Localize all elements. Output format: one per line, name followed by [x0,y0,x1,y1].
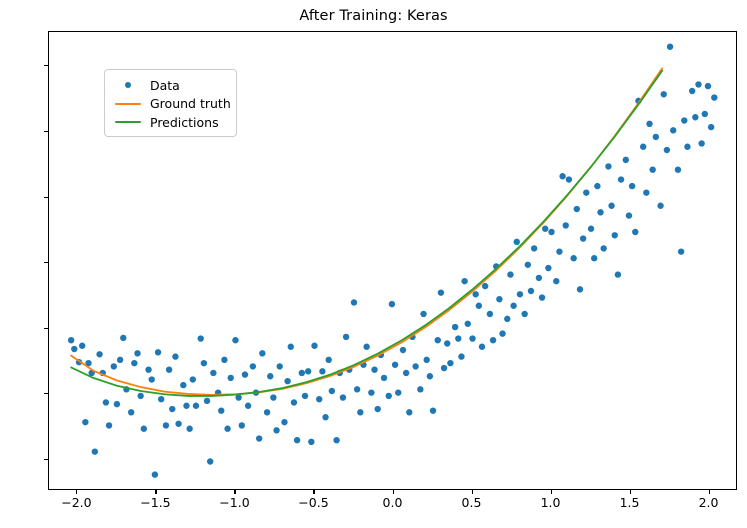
data-point [152,471,158,477]
x-tick-mark [630,490,631,494]
data-point [510,303,516,309]
data-point [392,362,398,368]
data-point [284,378,290,384]
data-point [711,94,717,100]
data-point [542,226,548,232]
data-point [548,229,554,235]
data-point [455,335,461,341]
data-point [389,301,395,307]
data-point [259,350,265,356]
data-point [111,363,117,369]
legend-label-ground-truth: Ground truth [150,96,231,111]
data-point [117,357,123,363]
data-point [131,360,137,366]
data-point [294,437,300,443]
legend-item-ground-truth: Ground truth [112,95,228,114]
legend-line-ground-truth-icon [112,103,144,105]
data-point [646,121,652,127]
plot-axes: Data Ground truth Predictions [48,31,737,490]
data-point [340,394,346,400]
y-tick-mark [44,393,48,394]
x-tick-label: −2.0 [61,495,91,510]
data-point [137,393,143,399]
data-point [490,337,496,343]
data-point [525,262,531,268]
data-point [281,419,287,425]
x-tick-mark [709,490,710,494]
data-point [577,286,583,292]
data-point [319,368,325,374]
data-point [256,435,262,441]
data-point [695,81,701,87]
data-point [288,344,294,350]
data-point [204,398,210,404]
data-point [172,353,178,359]
data-point [186,426,192,432]
data-point [175,421,181,427]
data-point [667,44,673,50]
data-point [531,245,537,251]
data-point [158,396,164,402]
data-point [322,414,328,420]
data-point [180,382,186,388]
data-point [386,393,392,399]
data-point [417,386,423,392]
x-tick-label: 2.0 [699,495,719,510]
data-point [615,271,621,277]
y-tick-mark [44,262,48,263]
data-point [183,403,189,409]
data-point [381,375,387,381]
data-point [412,363,418,369]
data-point [375,406,381,412]
data-point [487,311,493,317]
data-point [444,340,450,346]
x-tick-label: −1.5 [140,495,170,510]
data-point [273,427,279,433]
data-point [277,363,283,369]
data-point [92,448,98,454]
data-point [559,173,565,179]
x-tick-label: 0.0 [383,495,403,510]
data-point [96,351,102,357]
x-tick-label: 1.5 [620,495,640,510]
data-point [311,343,317,349]
data-point [675,167,681,173]
data-point [588,226,594,232]
data-point [594,183,600,189]
data-point [308,439,314,445]
data-point [128,409,134,415]
data-point [514,239,520,245]
figure-canvas: After Training: Keras Data Ground truth [0,0,747,528]
data-point [239,422,245,428]
data-point [678,248,684,254]
data-point [250,363,256,369]
data-point [242,371,248,377]
legend-label-predictions: Predictions [150,115,219,130]
data-point [657,203,663,209]
y-tick-mark [44,197,48,198]
y-tick-mark [44,65,48,66]
data-point [134,350,140,356]
legend-item-data: Data [112,76,228,95]
data-point [539,294,545,300]
data-point [640,144,646,150]
data-point [305,368,311,374]
data-point [447,360,453,366]
y-tick-mark [44,328,48,329]
x-tick-label: 0.5 [462,495,482,510]
data-point [438,289,444,295]
data-point [482,283,488,289]
x-tick-mark [313,490,314,494]
data-point [521,311,527,317]
data-point [608,203,614,209]
data-point [689,88,695,94]
data-point [600,245,606,251]
x-tick-label: −0.5 [298,495,328,510]
legend-label-data: Data [150,78,180,93]
data-point [264,409,270,415]
data-point [198,335,204,341]
chart-title: After Training: Keras [0,8,747,24]
data-point [326,357,332,363]
data-point [643,189,649,195]
data-point [120,335,126,341]
data-point [430,407,436,413]
data-point [329,388,335,394]
data-point [333,437,339,443]
data-point [201,360,207,366]
data-point [574,206,580,212]
y-tick-mark [44,459,48,460]
data-point [528,288,534,294]
data-point [207,458,213,464]
x-tick-mark [76,490,77,494]
data-point [692,114,698,120]
data-point [472,291,478,297]
data-point [435,337,441,343]
data-point [465,321,471,327]
data-point [684,144,690,150]
data-point [441,365,447,371]
data-point [664,147,670,153]
data-point [536,275,542,281]
data-point [423,357,429,363]
data-point [68,337,74,343]
data-point [371,366,377,372]
data-point [458,353,464,359]
data-point [270,394,276,400]
x-tick-mark [551,490,552,494]
data-point [354,386,360,392]
x-tick-label: 1.0 [541,495,561,510]
x-tick-mark [234,490,235,494]
data-point [632,229,638,235]
data-point [299,370,305,376]
data-point [605,163,611,169]
data-point [218,407,224,413]
data-point [661,91,667,97]
data-point [302,393,308,399]
data-point [166,366,172,372]
data-point [618,176,624,182]
data-point [708,124,714,130]
data-point [163,422,169,428]
data-point [649,167,655,173]
data-point [517,291,523,297]
legend-marker-data-icon [112,82,144,88]
data-point [155,349,161,355]
data-point [702,111,708,117]
data-point [82,419,88,425]
data-point [190,376,196,382]
data-point [420,311,426,317]
data-point [193,403,199,409]
data-point [545,265,551,271]
legend-box[interactable]: Data Ground truth Predictions [104,69,237,137]
data-point [228,375,234,381]
data-point [400,347,406,353]
data-point [141,426,147,432]
data-point [563,222,569,228]
data-point [629,183,635,189]
data-point [403,370,409,376]
data-point [681,117,687,123]
data-point [553,278,559,284]
data-point [245,403,251,409]
y-tick-mark [44,131,48,132]
data-point [499,330,505,336]
data-point [395,389,401,395]
data-point [406,409,412,415]
data-point [496,296,502,302]
data-point [114,401,120,407]
data-point [291,399,297,405]
data-point [623,157,629,163]
data-point [343,334,349,340]
data-point [591,255,597,261]
data-point [149,376,155,382]
x-tick-label: −1.0 [219,495,249,510]
data-point [267,373,273,379]
data-point [368,389,374,395]
data-point [461,278,467,284]
data-point [479,344,485,350]
x-tick-mark [155,490,156,494]
data-point [469,335,475,341]
data-point [79,343,85,349]
data-point [357,409,363,415]
x-tick-mark [393,490,394,494]
legend-item-predictions: Predictions [112,113,228,132]
legend-line-predictions-icon [112,121,144,123]
data-point [653,134,659,140]
data-point [169,406,175,412]
data-point [670,127,676,133]
data-point [612,232,618,238]
data-point [221,357,227,363]
data-point [316,396,322,402]
data-point [476,303,482,309]
data-point [71,346,77,352]
data-point [224,426,230,432]
data-point [570,255,576,261]
data-point [556,248,562,254]
data-point [210,370,216,376]
data-point [705,83,711,89]
x-tick-mark [472,490,473,494]
data-point [363,344,369,350]
data-point [427,373,433,379]
data-point [232,337,238,343]
data-point [580,235,586,241]
data-point [583,189,589,195]
data-point [351,299,357,305]
data-point [507,271,513,277]
data-point [504,316,510,322]
data-point [103,399,109,405]
data-point [452,324,458,330]
data-point [698,140,704,146]
data-point [145,366,151,372]
data-point [597,209,603,215]
data-point [566,176,572,182]
data-point [106,422,112,428]
data-point [626,212,632,218]
